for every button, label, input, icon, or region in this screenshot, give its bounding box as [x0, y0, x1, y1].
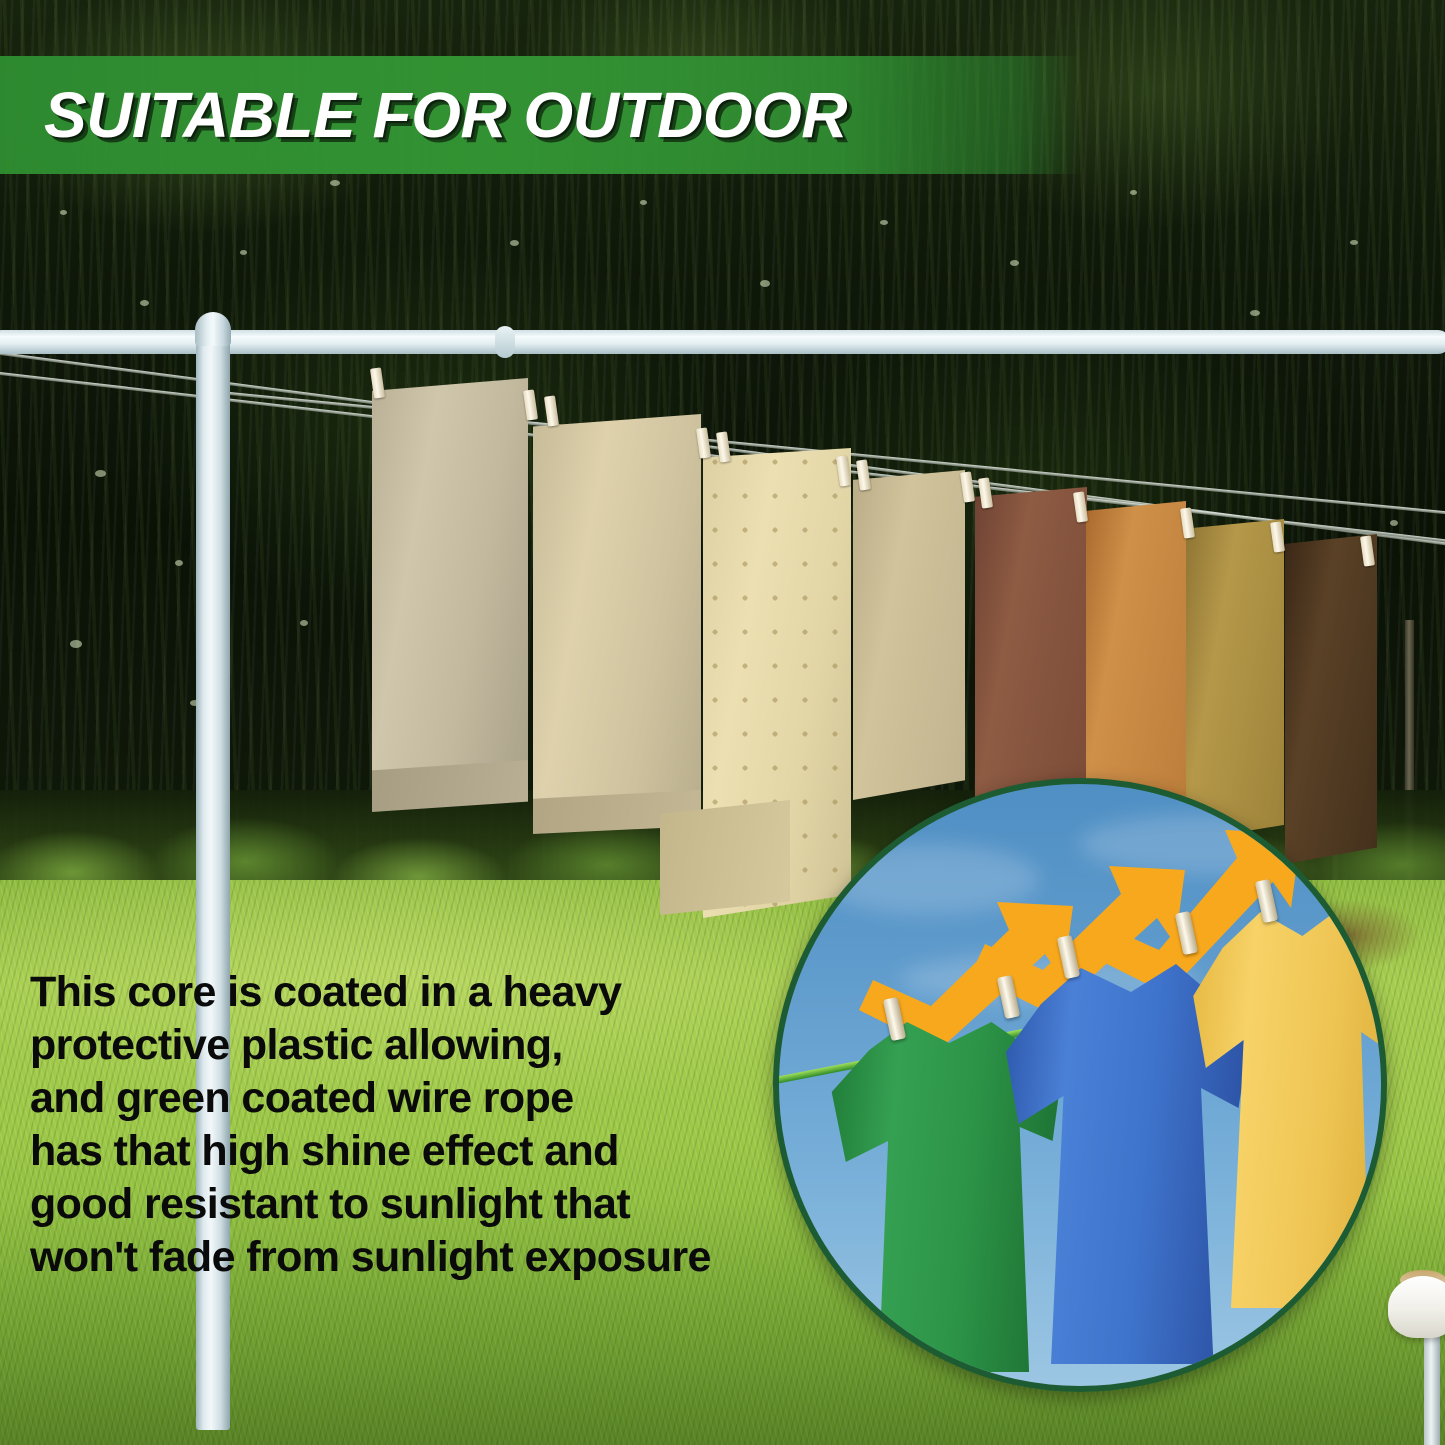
towel-7-olive — [1186, 519, 1284, 841]
feature-description-line: has that high shine effect and — [30, 1125, 730, 1178]
post-cap — [195, 312, 231, 346]
laundry-basket — [1388, 1276, 1445, 1338]
towel-4-tan — [853, 470, 965, 800]
towel-1-cream — [372, 378, 528, 808]
secondary-post — [1424, 1330, 1440, 1445]
product-feature-image: SUITABLE FOR OUTDOOR This core is coated… — [0, 0, 1445, 1445]
feature-description-line: This core is coated in a heavy — [30, 966, 730, 1019]
towel-3-hem — [660, 800, 790, 915]
feature-description-line: good resistant to sunlight that — [30, 1178, 730, 1231]
feature-description-line: and green coated wire rope — [30, 1072, 730, 1125]
feature-description-line: won't fade from sunlight exposure — [30, 1231, 730, 1284]
page-title: SUITABLE FOR OUTDOOR — [44, 62, 847, 168]
feature-description: This core is coated in a heavy protectiv… — [30, 966, 730, 1284]
feature-description-line: protective plastic allowing, — [30, 1019, 730, 1072]
crossbar-end-cap — [495, 326, 515, 358]
towel-5-brown — [975, 487, 1087, 812]
circular-detail-photo — [773, 778, 1387, 1392]
yellow-tshirt — [1189, 908, 1387, 1308]
towel-2-beige — [533, 414, 701, 832]
